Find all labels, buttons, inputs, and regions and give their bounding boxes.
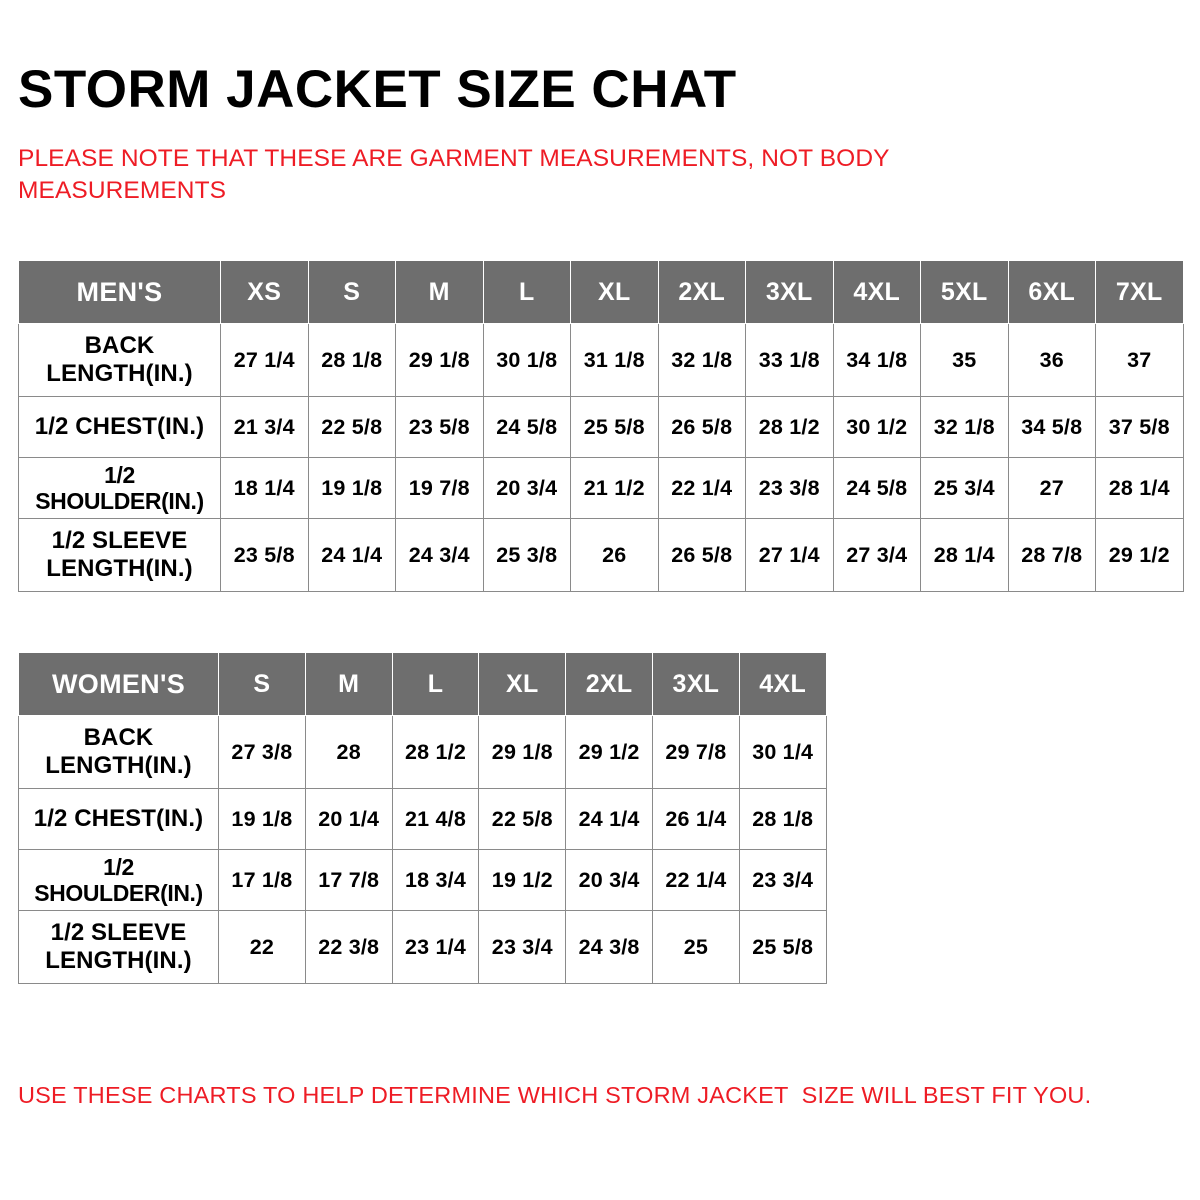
measurement-cell: 24 1/4 — [308, 519, 396, 592]
measurement-cell: 28 1/2 — [746, 397, 834, 458]
womens-column-header-l: L — [392, 653, 479, 716]
mens-column-header-3xl: 3XL — [746, 261, 834, 324]
mens-size-table: MEN'SXSSMLXL2XL3XL4XL5XL6XL7XL BACKLENGT… — [18, 260, 1184, 592]
womens-column-header-s: S — [219, 653, 306, 716]
womens-table-title: WOMEN'S — [19, 653, 219, 716]
measurement-cell: 26 5/8 — [658, 519, 746, 592]
measurement-cell: 22 1/4 — [652, 850, 739, 911]
row-label-line1: 1/2 SLEEVE — [21, 527, 218, 555]
measurement-cell: 19 1/2 — [479, 850, 566, 911]
measurement-cell: 37 — [1096, 324, 1184, 397]
measurement-cell: 17 7/8 — [305, 850, 392, 911]
measurement-cell: 23 3/4 — [739, 850, 826, 911]
womens-column-header-2xl: 2XL — [566, 653, 653, 716]
measurement-cell: 28 1/4 — [921, 519, 1009, 592]
womens-table-body: BACKLENGTH(IN.)27 3/82828 1/229 1/829 1/… — [19, 716, 827, 984]
measurement-cell: 29 1/8 — [396, 324, 484, 397]
mens-column-header-2xl: 2XL — [658, 261, 746, 324]
table-row: BACKLENGTH(IN.)27 1/428 1/829 1/830 1/83… — [19, 324, 1184, 397]
measurement-cell: 36 — [1008, 324, 1096, 397]
table-row: 1/2 SLEEVELENGTH(IN.)23 5/824 1/424 3/42… — [19, 519, 1184, 592]
row-label: 1/2 SLEEVELENGTH(IN.) — [19, 519, 221, 592]
measurement-cell: 30 1/4 — [739, 716, 826, 789]
table-row: 1/2 SLEEVELENGTH(IN.)2222 3/823 1/423 3/… — [19, 911, 827, 984]
measurement-cell: 25 3/4 — [921, 458, 1009, 519]
measurement-cell: 17 1/8 — [219, 850, 306, 911]
measurement-cell: 21 4/8 — [392, 789, 479, 850]
measurement-cell: 22 1/4 — [658, 458, 746, 519]
measurement-cell: 25 3/8 — [483, 519, 571, 592]
measurement-cell: 29 1/2 — [566, 716, 653, 789]
measurement-cell: 24 5/8 — [483, 397, 571, 458]
row-label-line1: BACK — [21, 724, 216, 752]
measurement-cell: 22 3/8 — [305, 911, 392, 984]
womens-column-header-3xl: 3XL — [652, 653, 739, 716]
row-label: 1/2 SHOULDER(IN.) — [19, 458, 221, 519]
measurement-cell: 29 1/8 — [479, 716, 566, 789]
measurement-cell: 24 1/4 — [566, 789, 653, 850]
row-label-line2: LENGTH(IN.) — [21, 360, 218, 388]
measurement-cell: 31 1/8 — [571, 324, 659, 397]
measurement-cell: 34 1/8 — [833, 324, 921, 397]
row-label-line1: 1/2 SLEEVE — [21, 919, 216, 947]
measurement-cell: 23 1/4 — [392, 911, 479, 984]
measurement-cell: 26 — [571, 519, 659, 592]
row-label: 1/2 SLEEVELENGTH(IN.) — [19, 911, 219, 984]
mens-column-header-xs: XS — [221, 261, 309, 324]
row-label-line2: LENGTH(IN.) — [21, 947, 216, 975]
measurement-cell: 28 — [305, 716, 392, 789]
measurement-cell: 20 3/4 — [483, 458, 571, 519]
measurement-cell: 37 5/8 — [1096, 397, 1184, 458]
mens-column-header-6xl: 6XL — [1008, 261, 1096, 324]
measurement-cell: 27 1/4 — [221, 324, 309, 397]
measurement-cell: 23 5/8 — [221, 519, 309, 592]
page-title: STORM JACKET SIZE CHAT — [18, 62, 737, 118]
measurement-cell: 30 1/2 — [833, 397, 921, 458]
mens-table-body: BACKLENGTH(IN.)27 1/428 1/829 1/830 1/83… — [19, 324, 1184, 592]
measurement-cell: 20 1/4 — [305, 789, 392, 850]
measurement-cell: 35 — [921, 324, 1009, 397]
measurement-cell: 19 7/8 — [396, 458, 484, 519]
mens-column-header-l: L — [483, 261, 571, 324]
womens-column-header-xl: XL — [479, 653, 566, 716]
measurement-cell: 28 1/4 — [1096, 458, 1184, 519]
measurement-cell: 27 — [1008, 458, 1096, 519]
measurement-cell: 29 1/2 — [1096, 519, 1184, 592]
womens-table-head: WOMEN'SSMLXL2XL3XL4XL — [19, 653, 827, 716]
mens-column-header-xl: XL — [571, 261, 659, 324]
measurement-cell: 19 1/8 — [308, 458, 396, 519]
measurement-cell: 21 3/4 — [221, 397, 309, 458]
womens-size-table: WOMEN'SSMLXL2XL3XL4XL BACKLENGTH(IN.)27 … — [18, 652, 827, 984]
measurement-cell: 22 — [219, 911, 306, 984]
measurement-cell: 22 5/8 — [479, 789, 566, 850]
measurement-cell: 23 3/4 — [479, 911, 566, 984]
row-label: 1/2 CHEST(IN.) — [19, 789, 219, 850]
measurement-cell: 27 3/8 — [219, 716, 306, 789]
row-label: 1/2 SHOULDER(IN.) — [19, 850, 219, 911]
table-row: 1/2 SHOULDER(IN.)17 1/817 7/818 3/419 1/… — [19, 850, 827, 911]
womens-header-row: WOMEN'SSMLXL2XL3XL4XL — [19, 653, 827, 716]
measurement-cell: 32 1/8 — [658, 324, 746, 397]
size-chart-page: STORM JACKET SIZE CHAT PLEASE NOTE THAT … — [0, 0, 1200, 1200]
measurement-cell: 29 7/8 — [652, 716, 739, 789]
measurement-cell: 25 5/8 — [739, 911, 826, 984]
mens-table-head: MEN'SXSSMLXL2XL3XL4XL5XL6XL7XL — [19, 261, 1184, 324]
footer-note: USE THESE CHARTS TO HELP DETERMINE WHICH… — [18, 1082, 1178, 1109]
measurement-cell: 28 1/8 — [308, 324, 396, 397]
row-label-line2: LENGTH(IN.) — [21, 555, 218, 583]
row-label: BACKLENGTH(IN.) — [19, 324, 221, 397]
row-label-line2: LENGTH(IN.) — [21, 752, 216, 780]
measurement-cell: 20 3/4 — [566, 850, 653, 911]
measurement-cell: 18 3/4 — [392, 850, 479, 911]
womens-column-header-4xl: 4XL — [739, 653, 826, 716]
measurement-cell: 23 5/8 — [396, 397, 484, 458]
mens-column-header-4xl: 4XL — [833, 261, 921, 324]
womens-column-header-m: M — [305, 653, 392, 716]
measurement-cell: 18 1/4 — [221, 458, 309, 519]
row-label: 1/2 CHEST(IN.) — [19, 397, 221, 458]
measurement-cell: 30 1/8 — [483, 324, 571, 397]
measurement-cell: 25 5/8 — [571, 397, 659, 458]
measurement-cell: 32 1/8 — [921, 397, 1009, 458]
table-row: 1/2 CHEST(IN.)19 1/820 1/421 4/822 5/824… — [19, 789, 827, 850]
measurement-cell: 34 5/8 — [1008, 397, 1096, 458]
garment-measurement-note: PLEASE NOTE THAT THESE ARE GARMENT MEASU… — [18, 143, 1018, 208]
mens-header-row: MEN'SXSSMLXL2XL3XL4XL5XL6XL7XL — [19, 261, 1184, 324]
row-label-line1: BACK — [21, 332, 218, 360]
measurement-cell: 27 3/4 — [833, 519, 921, 592]
measurement-cell: 28 1/2 — [392, 716, 479, 789]
mens-column-header-7xl: 7XL — [1096, 261, 1184, 324]
mens-column-header-s: S — [308, 261, 396, 324]
table-row: BACKLENGTH(IN.)27 3/82828 1/229 1/829 1/… — [19, 716, 827, 789]
measurement-cell: 24 3/8 — [566, 911, 653, 984]
measurement-cell: 28 7/8 — [1008, 519, 1096, 592]
measurement-cell: 26 1/4 — [652, 789, 739, 850]
measurement-cell: 23 3/8 — [746, 458, 834, 519]
table-row: 1/2 CHEST(IN.)21 3/422 5/823 5/824 5/825… — [19, 397, 1184, 458]
mens-column-header-5xl: 5XL — [921, 261, 1009, 324]
mens-table-title: MEN'S — [19, 261, 221, 324]
measurement-cell: 24 5/8 — [833, 458, 921, 519]
table-row: 1/2 SHOULDER(IN.)18 1/419 1/819 7/820 3/… — [19, 458, 1184, 519]
measurement-cell: 22 5/8 — [308, 397, 396, 458]
measurement-cell: 21 1/2 — [571, 458, 659, 519]
measurement-cell: 27 1/4 — [746, 519, 834, 592]
mens-column-header-m: M — [396, 261, 484, 324]
measurement-cell: 19 1/8 — [219, 789, 306, 850]
measurement-cell: 25 — [652, 911, 739, 984]
measurement-cell: 28 1/8 — [739, 789, 826, 850]
measurement-cell: 26 5/8 — [658, 397, 746, 458]
measurement-cell: 24 3/4 — [396, 519, 484, 592]
row-label: BACKLENGTH(IN.) — [19, 716, 219, 789]
measurement-cell: 33 1/8 — [746, 324, 834, 397]
